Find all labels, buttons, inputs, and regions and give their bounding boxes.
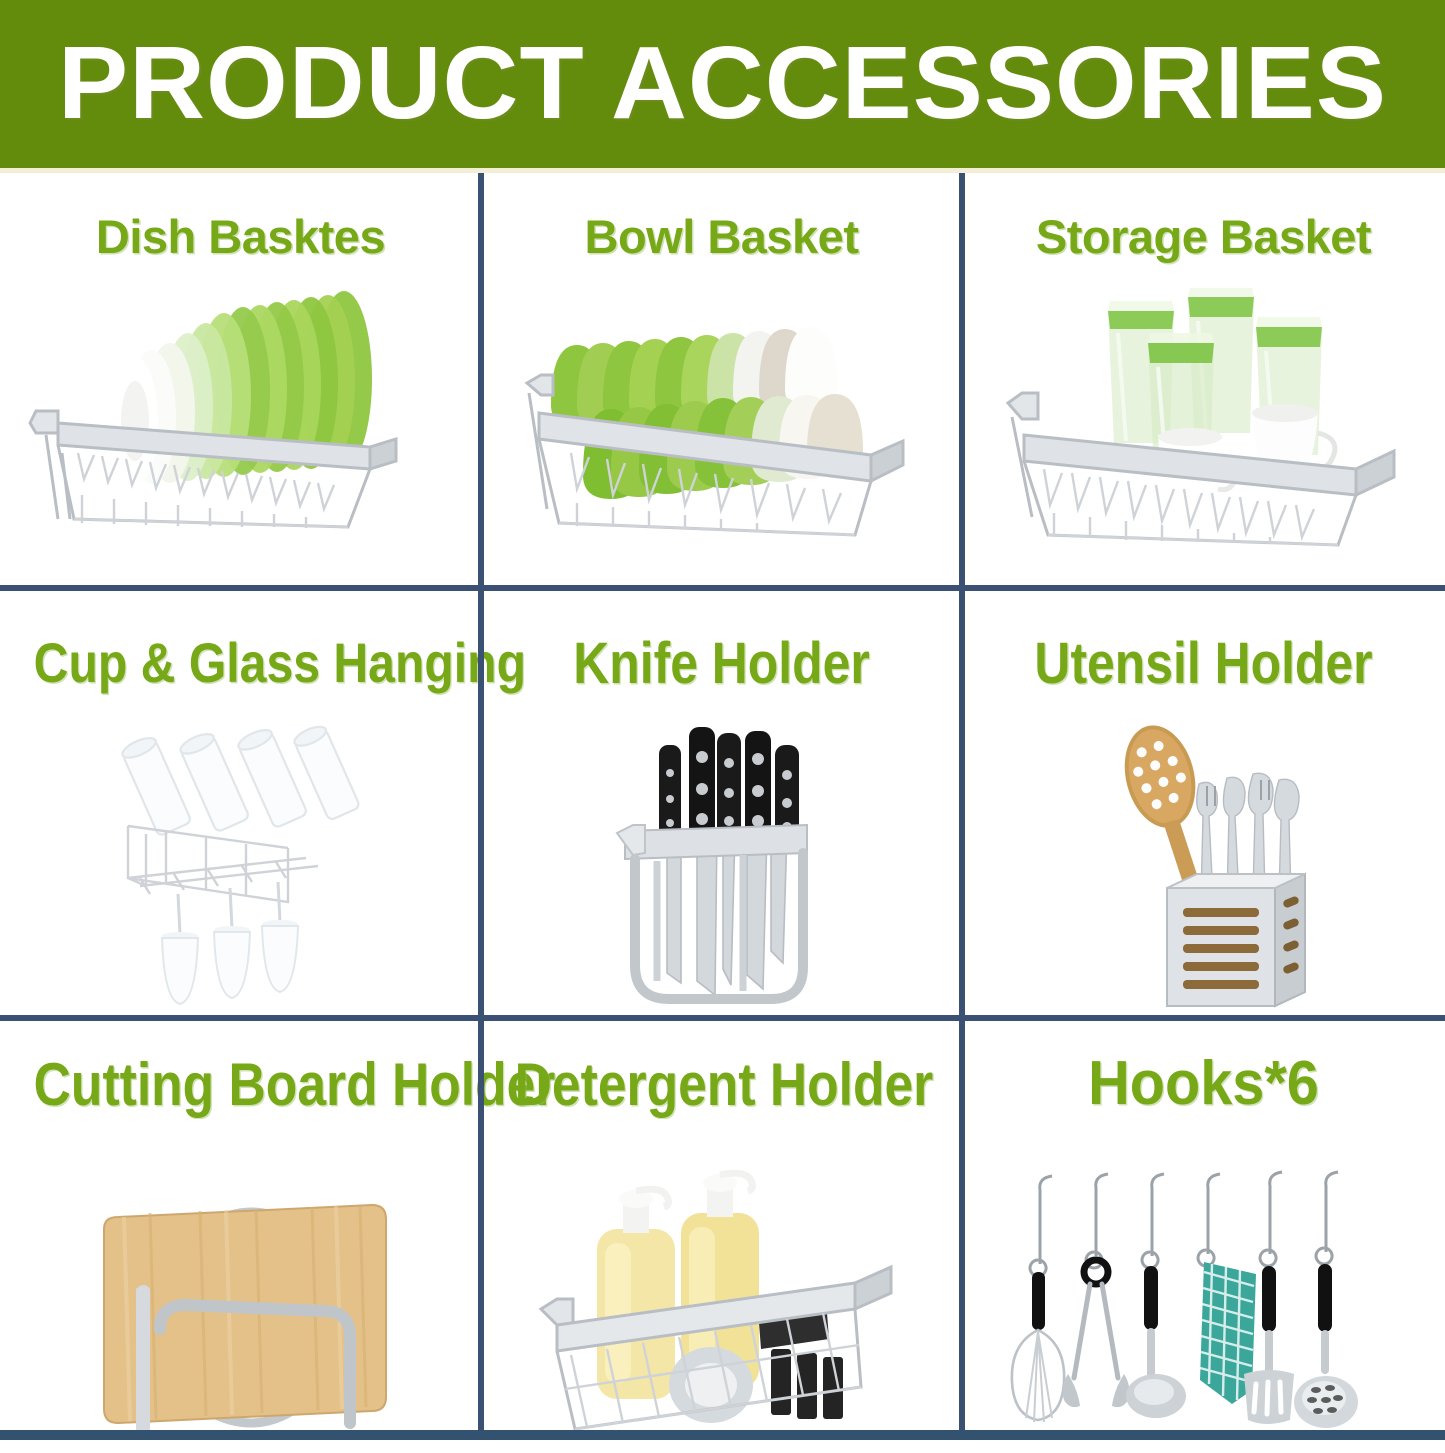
grid-cell-cutting-board-holder[interactable]: Cutting Board Holder	[0, 1018, 481, 1438]
grid-cell-detergent-holder[interactable]: Detergent Holder	[481, 1018, 962, 1438]
cell-label-cutting-board-holder: Cutting Board Holder	[34, 1050, 448, 1119]
cell-label-utensil-holder: Utensil Holder	[996, 630, 1411, 697]
cutting-board-holder-image	[60, 1183, 430, 1448]
footer-bar	[0, 1430, 1445, 1440]
grid-divider-horizontal-1	[0, 585, 1445, 591]
header-banner: PRODUCT ACCESSORIES	[0, 0, 1445, 168]
grid-cell-knife-holder[interactable]: Knife Holder	[481, 588, 962, 1018]
utensil-holder-image	[1107, 708, 1337, 1018]
page-title: PRODUCT ACCESSORIES	[0, 24, 1445, 142]
grid-cell-hooks[interactable]: Hooks*6	[962, 1018, 1445, 1438]
detergent-holder-image	[531, 1173, 921, 1453]
cell-label-knife-holder: Knife Holder	[515, 630, 929, 697]
grid-cell-storage-basket[interactable]: Storage Basket	[962, 173, 1445, 588]
hooks-image	[1004, 1168, 1404, 1438]
cell-label-detergent-holder: Detergent Holder	[515, 1050, 929, 1119]
grid-cell-dish-baskets[interactable]: Dish Basktes	[0, 173, 481, 588]
grid-divider-horizontal-2	[0, 1015, 1445, 1021]
knife-holder-image	[611, 713, 851, 1013]
cell-label-storage-basket: Storage Basket	[962, 209, 1445, 264]
accessory-grid: Dish Basktes	[0, 173, 1445, 1438]
grid-cell-bowl-basket[interactable]: Bowl Basket	[481, 173, 962, 588]
cup-glass-hanging-image	[110, 708, 410, 1008]
grid-cell-cup-glass-hanging[interactable]: Cup & Glass Hanging	[0, 588, 481, 1018]
bowl-basket-image	[511, 313, 941, 558]
grid-cell-utensil-holder[interactable]: Utensil Holder	[962, 588, 1445, 1018]
product-accessories-infographic: PRODUCT ACCESSORIES Dish Basktes	[0, 0, 1445, 1445]
storage-basket-image	[1002, 283, 1422, 553]
cell-label-cup-glass-hanging: Cup & Glass Hanging	[34, 630, 448, 695]
cell-label-dish-baskets: Dish Basktes	[0, 209, 481, 264]
dish-baskets-image	[18, 283, 463, 543]
grid-divider-vertical-2	[959, 173, 965, 1438]
grid-divider-vertical-1	[478, 173, 484, 1438]
cell-label-hooks: Hooks*6	[979, 1048, 1428, 1119]
cell-label-bowl-basket: Bowl Basket	[481, 209, 962, 264]
